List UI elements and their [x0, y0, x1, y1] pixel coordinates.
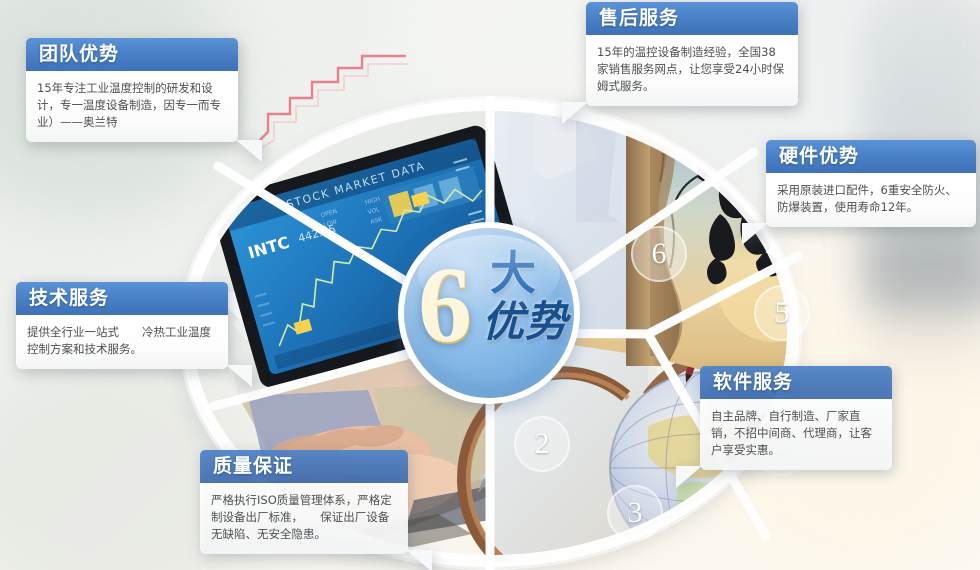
segment-number-5[interactable]: 5	[754, 285, 810, 341]
callout-tail	[742, 223, 768, 245]
segment-number-3[interactable]: 3	[607, 485, 663, 541]
callout-body: 提供全行业一站式 冷热工业温度控制方案和技术服务。	[16, 315, 228, 369]
callout-hardware-advantage[interactable]: 硬件优势 采用原装进口配件，6重安全防火、防爆装置，使用寿命12年。	[766, 140, 976, 227]
callout-title: 硬件优势	[766, 140, 976, 173]
center-label-youshi: 优势	[482, 300, 568, 344]
callout-after-sales-service[interactable]: 售后服务 15年的温控设备制造经验，全国38家销售服务网点，让您享受24小时保姆…	[586, 2, 798, 106]
callout-title: 团队优势	[26, 38, 238, 71]
callout-title: 软件服务	[700, 366, 892, 399]
callout-body: 采用原装进口配件，6重安全防火、防爆装置，使用寿命12年。	[766, 173, 976, 227]
callout-team-advantage[interactable]: 团队优势 15年专注工业温度控制的研发和设计，专一温度设备制造，因专一而专业）—…	[26, 38, 238, 142]
callout-quality-assurance[interactable]: 质量保证 严格执行ISO质量管理体系，严格定制设备出厂标准， 保证出厂设备无缺陷…	[200, 450, 408, 554]
callout-tail	[226, 365, 252, 387]
callout-title: 质量保证	[200, 450, 408, 483]
callout-technical-service[interactable]: 技术服务 提供全行业一站式 冷热工业温度控制方案和技术服务。	[16, 282, 228, 369]
callout-software-service[interactable]: 软件服务 自主品牌、自行制造、厂家直销，不招中间商、代理商，让客户享受实惠。	[700, 366, 892, 470]
callout-tail	[406, 550, 432, 570]
callout-tail	[236, 140, 262, 162]
callout-body: 严格执行ISO质量管理体系，严格定制设备出厂标准， 保证出厂设备无缺陷、无安全隐…	[200, 483, 408, 554]
segment-number-2[interactable]: 2	[514, 416, 570, 472]
callout-body: 15年的温控设备制造经验，全国38家销售服务网点，让您享受24小时保姆式服务。	[586, 35, 798, 106]
callout-body: 15年专注工业温度控制的研发和设计，专一温度设备制造，因专一而专业）——奥兰特	[26, 71, 238, 142]
segment-number-6[interactable]: 6	[631, 226, 687, 282]
callout-body: 自主品牌、自行制造、厂家直销，不招中间商、代理商，让客户享受实惠。	[700, 399, 892, 470]
background-shadow-strip	[870, 230, 980, 370]
center-number: 6	[418, 252, 472, 360]
callout-title: 技术服务	[16, 282, 228, 315]
center-badge: 6 大 优势	[398, 222, 580, 404]
center-badge-inner: 6 大 优势	[404, 228, 574, 398]
callout-title: 售后服务	[586, 2, 798, 35]
callout-tail	[676, 466, 702, 488]
center-label-da: 大	[490, 250, 536, 296]
callout-tail	[562, 102, 588, 124]
